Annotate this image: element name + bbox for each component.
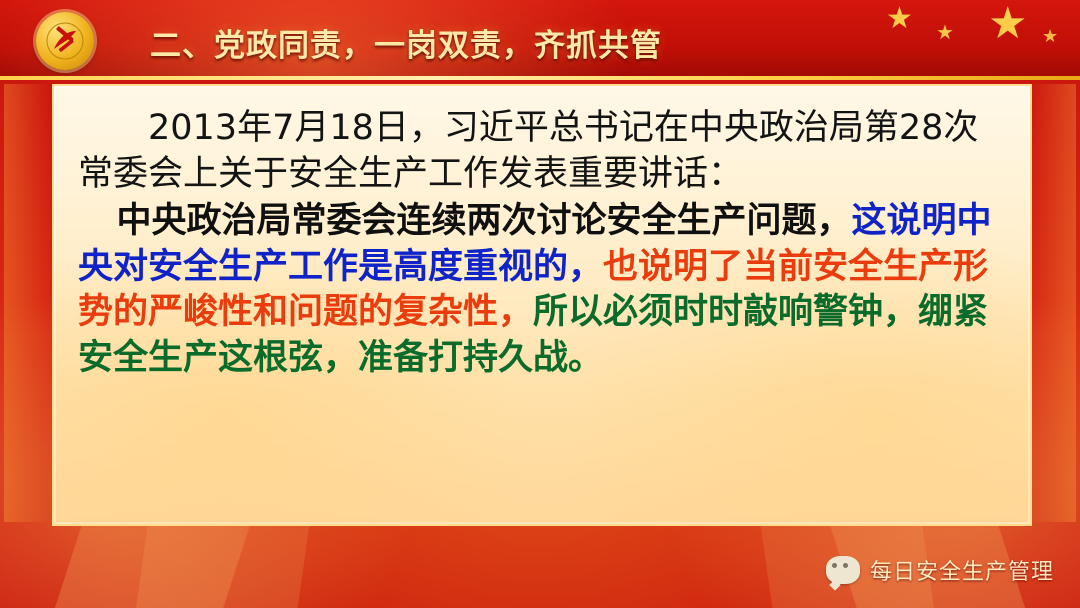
- footer-watermark: 每日安全生产管理: [826, 554, 1054, 586]
- paragraph-quote-intro: 2013年7月18日，习近平总书记在中央政治局第28次常委会上关于安全生产工作发…: [78, 106, 1008, 197]
- party-emblem-hammer-sickle-icon: [36, 12, 94, 70]
- wechat-bubble-icon: [826, 556, 860, 584]
- left-edge-glow: [4, 84, 50, 522]
- star-icon-1: ★: [886, 4, 913, 34]
- right-edge-glow: [1030, 84, 1076, 522]
- quote-segment-black: 中央政治局常委会连续两次讨论安全生产问题，: [117, 201, 852, 241]
- content-text: 2013年7月18日，习近平总书记在中央政治局第28次常委会上关于安全生产工作发…: [78, 106, 1008, 381]
- star-icon-2: ★: [936, 22, 954, 42]
- paragraph-quote-body: 中央政治局常委会连续两次讨论安全生产问题，这说明中央对安全生产工作是高度重视的，…: [78, 199, 1008, 381]
- content-panel: 2013年7月18日，习近平总书记在中央政治局第28次常委会上关于安全生产工作发…: [52, 84, 1032, 526]
- star-icon-3: ★: [988, 2, 1027, 46]
- page-title: 二、党政同责，一岗双责，齐抓共管: [150, 20, 910, 66]
- star-icon-4: ★: [1042, 28, 1058, 46]
- footer-label: 每日安全生产管理: [870, 554, 1054, 586]
- title-banner: 二、党政同责，一岗双责，齐抓共管 ★ ★ ★ ★: [0, 0, 1080, 80]
- slide: 二、党政同责，一岗双责，齐抓共管 ★ ★ ★ ★ 2013年7月18日，习近平总…: [0, 0, 1080, 608]
